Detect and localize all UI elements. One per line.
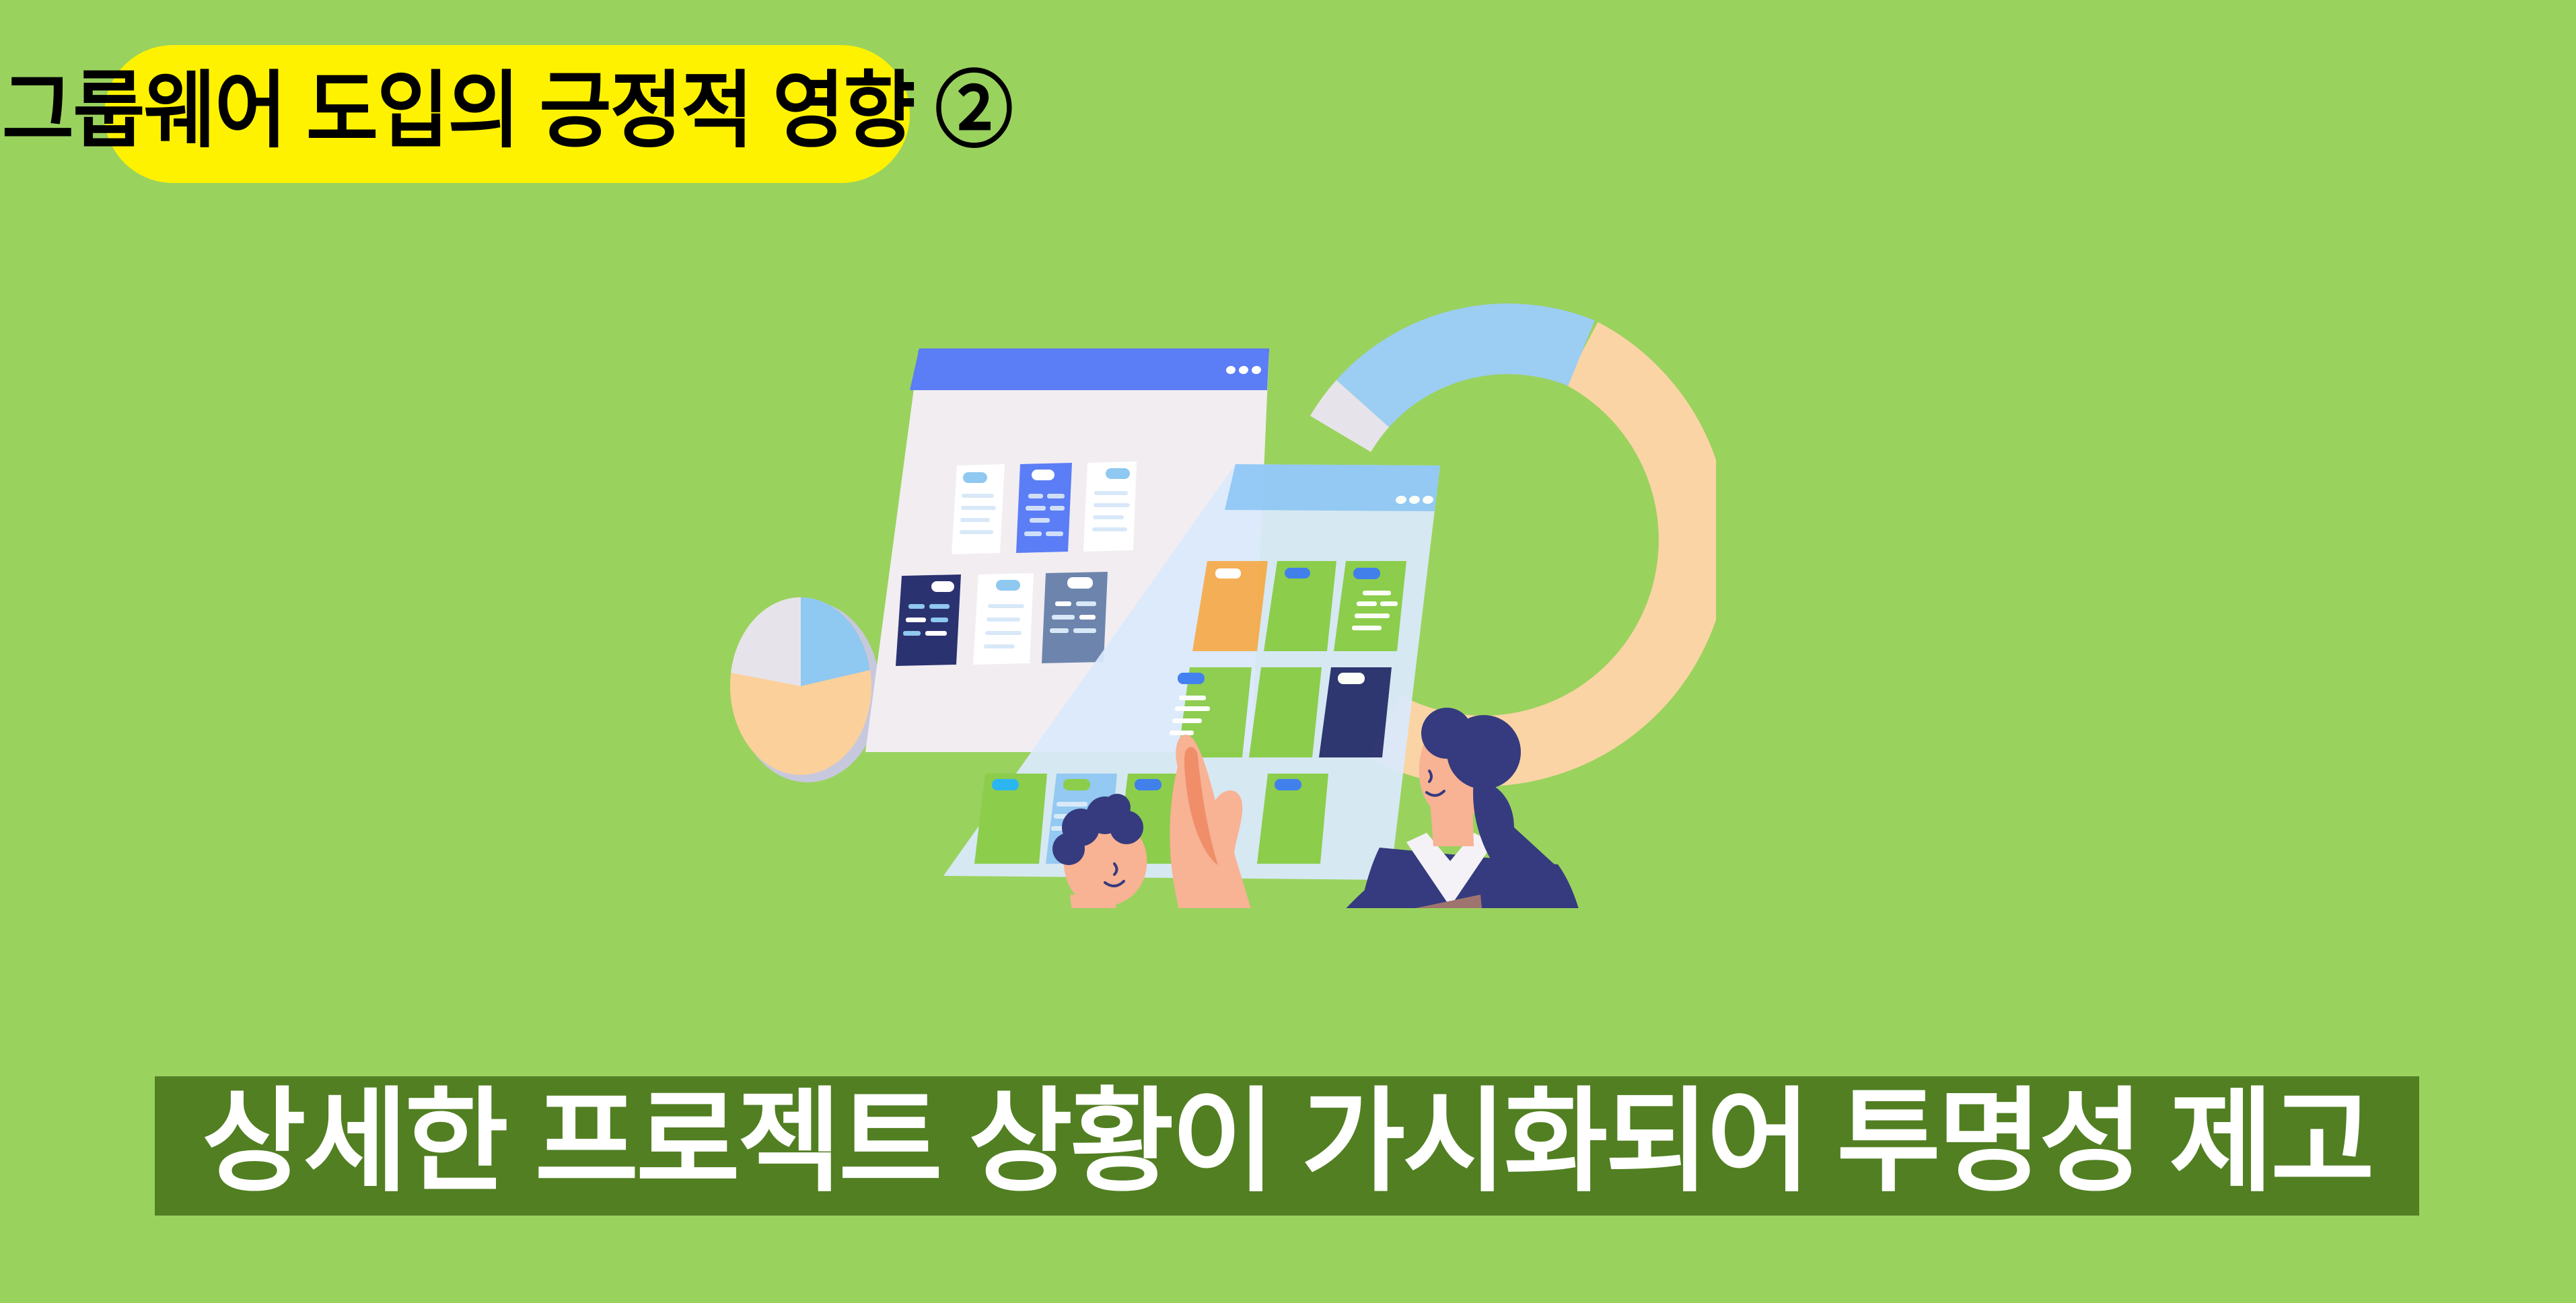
- slide-canvas: 그룹웨어 도입의 긍정적 영향 ②: [0, 0, 2576, 1303]
- task-card: [973, 573, 1034, 665]
- caption-label: 상세한 프로젝트 상황이 가시화되어 투명성 제고: [202, 1085, 2372, 1207]
- window-dots: [1225, 365, 1262, 375]
- title-badge-label: 그룹웨어 도입의 긍정적 영향 ②: [2, 69, 1012, 159]
- title-badge: 그룹웨어 도입의 긍정적 영향 ②: [104, 45, 910, 183]
- task-card: [1016, 463, 1072, 553]
- task-card: [1042, 572, 1108, 663]
- kanban-card: [1319, 667, 1392, 757]
- caption-bar: 상세한 프로젝트 상황이 가시화되어 투명성 제고: [155, 1076, 2419, 1216]
- kanban-card: [974, 774, 1047, 864]
- window-dots: [1395, 495, 1434, 505]
- task-card: [952, 464, 1005, 554]
- pie-chart: [730, 597, 880, 782]
- task-card: [1083, 461, 1137, 552]
- kanban-card: [1334, 561, 1406, 651]
- kanban-card: [1257, 774, 1328, 864]
- illustration: [707, 269, 1716, 908]
- kanban-card: [1249, 667, 1322, 757]
- task-card: [896, 574, 961, 666]
